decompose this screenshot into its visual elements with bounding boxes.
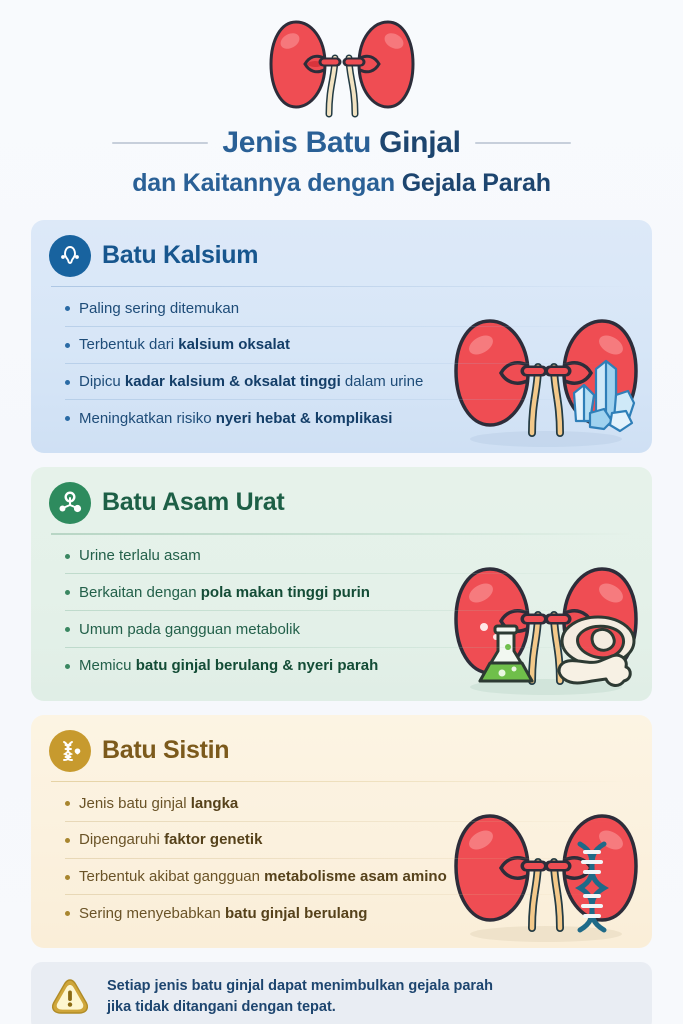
card-batu-kalsium[interactable]: Batu Kalsium Paling sering ditemukan Ter… bbox=[31, 220, 652, 454]
list-item: Umum pada gangguan metabolik bbox=[65, 611, 634, 648]
card-batu-sistin[interactable]: Batu Sistin Jenis batu ginjal langka Dip… bbox=[31, 715, 652, 949]
card-title: Batu Asam Urat bbox=[102, 489, 284, 517]
card-header: Batu Kalsium bbox=[49, 235, 634, 277]
list-item: Paling sering ditemukan bbox=[65, 291, 634, 327]
card-header-divider bbox=[51, 286, 632, 288]
list-item: Urine terlalu asam bbox=[65, 539, 634, 575]
warning-note-line2: jika tidak ditangani dengan tepat. bbox=[107, 997, 493, 1018]
card-header-divider bbox=[51, 533, 632, 535]
page-title-line1: Jenis Batu Ginjal bbox=[222, 126, 460, 161]
warning-note: Setiap jenis batu ginjal dapat menimbulk… bbox=[31, 962, 652, 1024]
warning-triangle-icon bbox=[49, 976, 91, 1018]
list-item: Sering menyebabkan batu ginjal berulang bbox=[65, 895, 634, 932]
dna-helix-icon bbox=[49, 730, 91, 772]
card-header: Batu Asam Urat bbox=[49, 482, 634, 524]
list-item: Meningkatkan risiko nyeri hebat & kompli… bbox=[65, 400, 634, 437]
list-item: Jenis batu ginjal langka bbox=[65, 786, 634, 822]
page-subtitle-light: dan Kaitannya dengan bbox=[132, 169, 401, 197]
card-bullet-list: Jenis batu ginjal langka Dipengaruhi fak… bbox=[49, 786, 634, 932]
infographic-page: Jenis Batu Ginjal dan Kaitannya dengan G… bbox=[0, 0, 683, 1024]
list-item: Terbentuk dari kalsium oksalat bbox=[65, 327, 634, 364]
list-item: Terbentuk akibat gangguan metabolisme as… bbox=[65, 859, 634, 896]
title-rule-right bbox=[475, 142, 571, 144]
page-title-line1-light: Jenis Batu bbox=[222, 126, 379, 159]
card-title: Batu Sistin bbox=[102, 737, 229, 765]
cards-container: Batu Kalsium Paling sering ditemukan Ter… bbox=[31, 220, 652, 949]
card-title: Batu Kalsium bbox=[102, 242, 258, 270]
list-item: Berkaitan dengan pola makan tinggi purin bbox=[65, 574, 634, 611]
header: Jenis Batu Ginjal dan Kaitannya dengan G… bbox=[31, 0, 652, 198]
card-header-divider bbox=[51, 781, 632, 783]
warning-note-text: Setiap jenis batu ginjal dapat menimbulk… bbox=[107, 976, 493, 1018]
page-title: Jenis Batu Ginjal bbox=[31, 126, 652, 161]
list-item: Dipicu kadar kalsium & oksalat tinggi da… bbox=[65, 364, 634, 401]
molecule-icon bbox=[49, 482, 91, 524]
page-subtitle-bold: Gejala Parah bbox=[402, 169, 551, 197]
kidney-outline-icon bbox=[49, 235, 91, 277]
card-batu-asam-urat[interactable]: Batu Asam Urat Urine terlalu asam Berkai… bbox=[31, 467, 652, 701]
page-subtitle: dan Kaitannya dengan Gejala Parah bbox=[31, 168, 652, 198]
list-item: Memicu batu ginjal berulang & nyeri para… bbox=[65, 648, 634, 685]
warning-note-line1: Setiap jenis batu ginjal dapat menimbulk… bbox=[107, 976, 493, 997]
page-title-line1-bold: Ginjal bbox=[379, 126, 461, 159]
card-bullet-list: Urine terlalu asam Berkaitan dengan pola… bbox=[49, 539, 634, 685]
title-rule-left bbox=[112, 142, 208, 144]
kidneys-icon bbox=[267, 14, 417, 118]
card-bullet-list: Paling sering ditemukan Terbentuk dari k… bbox=[49, 291, 634, 437]
card-header: Batu Sistin bbox=[49, 730, 634, 772]
list-item: Dipengaruhi faktor genetik bbox=[65, 822, 634, 859]
